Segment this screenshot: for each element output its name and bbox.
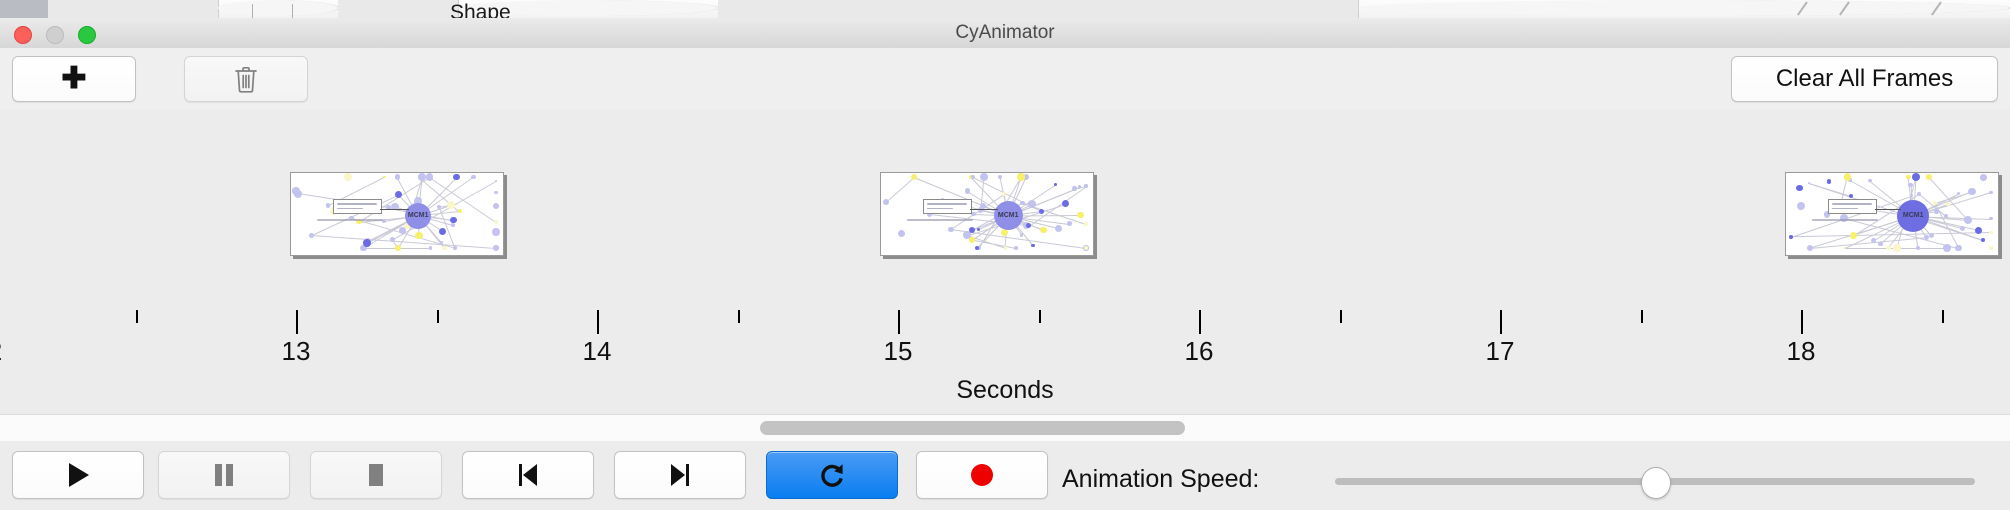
network-node: [1072, 186, 1077, 191]
network-node: [1916, 246, 1920, 250]
network-node: [1014, 246, 1019, 251]
network-node: [1004, 246, 1008, 250]
network-node: [415, 232, 422, 239]
network-node: [1960, 226, 1965, 231]
timeline-axis: Seconds 2131415161718: [0, 310, 2010, 410]
network-node: [898, 230, 905, 237]
callout-leader-line: [380, 209, 409, 210]
timeline-frame[interactable]: MCM1: [1785, 172, 1999, 256]
axis-tick-minor: [738, 310, 740, 323]
cyanimator-window: Shape CyAnimator ✚ Clear All Frames MCM1…: [0, 0, 2010, 510]
network-node: [1989, 231, 1992, 234]
network-node: [1886, 246, 1891, 251]
network-node: [883, 199, 889, 205]
network-node: [363, 239, 371, 247]
window-title: CyAnimator: [0, 18, 2010, 48]
axis-tick-minor: [1039, 310, 1041, 323]
background-chip: [48, 0, 219, 18]
axis-tick-minor: [1641, 310, 1643, 323]
network-node: [1893, 244, 1901, 252]
network-node: [1017, 173, 1024, 180]
network-node: [418, 173, 426, 181]
timeline-scrollbar[interactable]: [0, 414, 2010, 442]
network-hub-node: MCM1: [405, 203, 431, 229]
skip-forward-icon: [667, 461, 693, 489]
callout-leader-line: [970, 209, 998, 210]
network-node: [1943, 244, 1951, 252]
network-node: [1989, 217, 1993, 221]
network-node: [971, 175, 975, 179]
network-hub-node: MCM1: [994, 201, 1023, 230]
network-node: [1020, 201, 1024, 205]
network-node: [1926, 174, 1932, 180]
callout-leader-line: [1875, 209, 1901, 210]
network-node: [447, 201, 454, 208]
network-node: [1957, 192, 1960, 195]
network-node: [309, 233, 314, 238]
network-node: [1878, 242, 1882, 246]
network-node: [1989, 246, 1992, 249]
network-node: [1827, 179, 1832, 184]
axis-tick-minor: [437, 310, 439, 323]
network-node: [383, 176, 386, 179]
clear-all-frames-label: Clear All Frames: [1776, 65, 1953, 93]
record-icon: [968, 461, 996, 489]
pause-icon: [212, 461, 236, 489]
axis-tick-major: [1199, 310, 1201, 334]
network-node: [1807, 245, 1813, 251]
axis-title: Seconds: [0, 376, 2010, 405]
callout-text-line: [927, 203, 967, 205]
network-node: [1028, 200, 1036, 208]
axis-tick-minor: [1340, 310, 1342, 323]
axis-tick-label: 2: [0, 336, 2, 367]
background-chip: [0, 0, 49, 18]
network-node: [1933, 201, 1937, 205]
stop-icon: [365, 461, 387, 489]
network-node: [292, 187, 299, 194]
background-windows-strip: Shape: [0, 0, 2010, 19]
network-node: [1026, 223, 1031, 228]
axis-tick-major: [898, 310, 900, 334]
network-node: [977, 228, 980, 231]
network-node: [1934, 209, 1939, 214]
animation-speed-slider-thumb[interactable]: [1641, 467, 1671, 499]
background-chip: [1358, 0, 2010, 16]
network-node: [471, 175, 476, 180]
network-node: [495, 180, 498, 183]
network-node: [395, 245, 401, 251]
add-frame-button[interactable]: ✚: [12, 56, 136, 102]
axis-tick-minor: [136, 310, 138, 323]
frame-thumbnail[interactable]: MCM1: [880, 172, 1094, 256]
pause-button[interactable]: [158, 451, 290, 499]
network-annotation-callout: [923, 199, 972, 214]
network-node: [395, 174, 401, 180]
network-node: [1084, 246, 1088, 250]
network-node: [965, 188, 971, 194]
network-node: [1868, 179, 1871, 182]
network-node: [1077, 212, 1083, 218]
network-node: [1929, 233, 1934, 238]
background-chip: [218, 0, 339, 16]
network-node: [1796, 185, 1802, 191]
network-node: [429, 246, 432, 249]
animation-speed-label: Animation Speed:: [1062, 465, 1259, 494]
network-node: [1078, 185, 1082, 189]
network-node: [492, 228, 499, 235]
network-annotation-callout: [1828, 199, 1877, 214]
network-node: [453, 174, 459, 180]
callout-text-line: [1832, 203, 1872, 205]
network-node: [971, 212, 975, 216]
network-node: [1908, 183, 1912, 187]
timeline-scrollbar-thumb[interactable]: [760, 421, 1185, 435]
network-node: [1955, 245, 1962, 252]
network-node: [1964, 216, 1972, 224]
network-node: [442, 246, 447, 251]
network-node: [493, 245, 500, 252]
network-caption-text: [907, 219, 973, 221]
frame-thumbnail[interactable]: MCM1: [290, 172, 504, 256]
play-icon: [65, 461, 91, 489]
network-node: [1055, 225, 1062, 232]
clear-all-frames-button[interactable]: Clear All Frames: [1731, 56, 1998, 102]
timeline-frame[interactable]: MCM1: [290, 172, 504, 256]
network-node: [1039, 209, 1044, 214]
timeline-frames-area[interactable]: MCM1MCM1MCM1: [0, 110, 2010, 313]
axis-tick-major: [296, 310, 298, 334]
axis-tick-major: [1500, 310, 1502, 334]
axis-tick-label: 16: [1185, 336, 1214, 367]
axis-tick-minor: [1942, 310, 1944, 323]
network-node: [1968, 188, 1975, 195]
network-node: [1906, 175, 1911, 180]
play-button[interactable]: [12, 451, 144, 499]
network-node: [1789, 235, 1793, 239]
network-node: [1844, 173, 1852, 181]
axis-tick-major: [597, 310, 599, 334]
network-node: [1020, 233, 1023, 236]
axis-tick-major: [1801, 310, 1803, 334]
frame-thumbnail[interactable]: MCM1: [1785, 172, 1999, 256]
network-caption-text: [1812, 219, 1878, 221]
network-node: [1917, 192, 1921, 196]
network-node: [1084, 222, 1089, 227]
background-chip: [718, 0, 1359, 18]
background-tick: [292, 4, 293, 18]
playback-controls: Animation Speed:: [0, 441, 2010, 510]
delete-frame-button[interactable]: [184, 56, 308, 102]
timeline-frame[interactable]: MCM1: [880, 172, 1094, 256]
network-node: [326, 203, 330, 207]
axis-tick-label: 18: [1787, 336, 1816, 367]
network-node: [948, 227, 953, 232]
network-node: [1924, 235, 1929, 240]
network-node: [969, 237, 975, 243]
network-node: [998, 175, 1002, 179]
network-node: [1054, 183, 1057, 186]
stop-button[interactable]: [310, 451, 442, 499]
plus-icon: ✚: [61, 64, 86, 94]
network-node: [450, 217, 456, 223]
axis-tick-label: 15: [884, 336, 913, 367]
network-node: [439, 228, 446, 235]
network-node: [451, 223, 455, 227]
network-node: [1084, 184, 1087, 187]
network-node: [494, 191, 497, 194]
network-node: [1040, 227, 1046, 233]
callout-text-line: [337, 203, 377, 205]
loop-icon: [817, 460, 847, 490]
network-node: [1062, 200, 1069, 207]
network-node: [1912, 173, 1920, 181]
network-node: [1797, 202, 1805, 210]
network-caption-text: [317, 219, 383, 221]
network-node: [1850, 232, 1857, 239]
record-button[interactable]: [916, 451, 1048, 499]
network-node: [1981, 238, 1985, 242]
network-edge: [886, 177, 915, 203]
network-node: [493, 203, 500, 210]
skip-back-icon: [515, 461, 541, 489]
axis-tick-label: 17: [1486, 336, 1515, 367]
network-node: [494, 220, 498, 224]
background-chip: [338, 0, 459, 18]
network-node: [980, 173, 988, 181]
toolbar: ✚ Clear All Frames: [0, 48, 2010, 111]
callout-text-line: [337, 208, 363, 210]
network-node: [1067, 221, 1072, 226]
skip-start-button[interactable]: [462, 451, 594, 499]
trash-icon: [234, 66, 258, 93]
network-hub-node: MCM1: [1897, 200, 1929, 232]
network-node: [399, 227, 406, 234]
network-node: [1031, 244, 1034, 247]
axis-tick-label: 14: [583, 336, 612, 367]
network-node: [426, 173, 433, 180]
network-node: [1002, 192, 1006, 196]
network-node: [458, 209, 462, 213]
network-annotation-callout: [333, 199, 382, 214]
axis-tick-label: 13: [282, 336, 311, 367]
loop-button[interactable]: [766, 451, 898, 499]
network-node: [1980, 174, 1987, 181]
network-node: [344, 173, 352, 181]
skip-end-button[interactable]: [614, 451, 746, 499]
background-tick: [252, 4, 253, 18]
network-node: [1989, 191, 1993, 195]
background-window-label: Shape: [450, 1, 511, 19]
callout-text-line: [927, 208, 953, 210]
network-node: [453, 246, 457, 250]
callout-text-line: [1832, 208, 1858, 210]
title-bar[interactable]: CyAnimator: [0, 18, 2010, 49]
